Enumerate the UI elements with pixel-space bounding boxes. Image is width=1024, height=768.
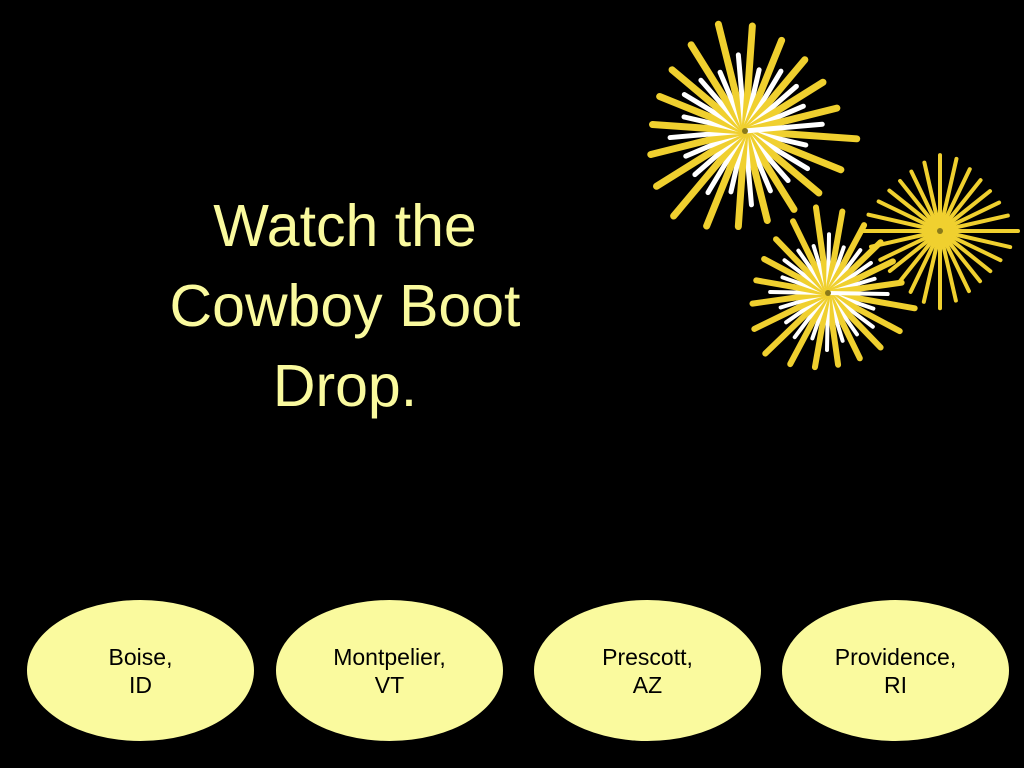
firework-ray [765, 293, 828, 354]
firework-ray [869, 215, 940, 231]
city-button-montpelier-vt[interactable]: Montpelier, VT [276, 600, 503, 741]
firework-ray [924, 163, 940, 231]
firework-ray [828, 283, 902, 293]
firework-ray [672, 70, 745, 131]
firework-ray [670, 131, 745, 138]
firework-ray [718, 24, 745, 131]
firework-ray [745, 71, 781, 131]
firework-ray [828, 293, 888, 294]
firework-ray [828, 279, 875, 293]
firework-ray [828, 293, 900, 331]
firework-ray [708, 131, 745, 193]
firework-ray [828, 234, 829, 293]
firework-ray [745, 131, 751, 205]
city-button-providence-ri[interactable]: Providence, RI [782, 600, 1009, 741]
city-button-label: Providence, RI [835, 643, 956, 699]
firework-ray [940, 216, 1008, 231]
firework-ray [798, 251, 828, 293]
firework-ray [752, 293, 828, 304]
firework-ray [745, 106, 803, 131]
firework-ray [940, 231, 969, 291]
firework-ray [924, 231, 940, 302]
city-button-label: Prescott, AZ [602, 643, 693, 699]
firework-ray [871, 231, 940, 247]
fireworks-burst-group [651, 24, 1018, 367]
firework-ray [828, 247, 844, 293]
firework-ray [657, 131, 745, 186]
firework-ray [745, 131, 808, 169]
firework-ray [764, 259, 828, 293]
firework-ray [738, 55, 745, 131]
firework-ray [940, 231, 990, 271]
firework-ray [745, 86, 796, 131]
firework-ray [674, 131, 745, 216]
firework-ray [653, 125, 745, 131]
firework-ray [720, 72, 745, 131]
city-button-prescott-az[interactable]: Prescott, AZ [534, 600, 761, 741]
firework-ray [691, 45, 745, 131]
firework-ray [827, 293, 828, 350]
firework-ray [828, 293, 860, 358]
firework-ray [828, 293, 873, 327]
firework-ray [814, 246, 828, 293]
firework-ray [684, 95, 745, 131]
firework-ray [911, 172, 940, 231]
firework-core [742, 128, 748, 134]
firework-ray [828, 293, 857, 334]
firework-core [825, 290, 831, 296]
firework-ray [776, 239, 828, 293]
firework-ray [828, 293, 873, 309]
firework-ray [889, 191, 940, 231]
firework-ray [745, 40, 782, 131]
firework-ray [781, 293, 828, 307]
firework-ray [756, 280, 828, 293]
firework-ray [828, 263, 871, 293]
firework-ray [754, 293, 828, 329]
firework-ray [879, 201, 940, 231]
firework-ray [828, 293, 881, 348]
page-title: Watch the Cowboy Boot Drop. [60, 186, 630, 426]
firework-ray [880, 231, 940, 260]
firework-ray [745, 26, 752, 131]
firework-ray [940, 231, 1010, 247]
firework-ray [828, 261, 893, 293]
firework-ray [828, 250, 860, 293]
firework-ray [738, 131, 745, 227]
firework-ray [745, 108, 837, 131]
firework-ray [815, 293, 828, 367]
firework-ray [745, 131, 770, 191]
firework-ray [785, 260, 829, 293]
firework-ray [812, 293, 828, 338]
firework-ray [745, 131, 767, 220]
firework-ray [684, 117, 745, 131]
firework-ray [770, 292, 828, 293]
firework-core [937, 228, 943, 234]
city-button-label: Montpelier, VT [333, 643, 446, 699]
firework-ray [828, 293, 838, 365]
firework-ray [900, 231, 940, 281]
firework-ray [940, 231, 1001, 260]
firework-ray [731, 131, 745, 192]
firework-ray [786, 293, 828, 322]
firework-ray [940, 169, 970, 231]
firework-ray [940, 180, 981, 231]
firework-ray [745, 131, 841, 170]
firework-ray [911, 231, 940, 292]
firework-ray [816, 207, 828, 293]
city-button-label: Boise, ID [109, 643, 173, 699]
firework-ray [745, 70, 759, 131]
slide-canvas: Watch the Cowboy Boot Drop. Boise, ID Mo… [0, 0, 1024, 768]
firework-ray [660, 97, 745, 131]
firework-ray [701, 80, 745, 131]
firework-ray [828, 225, 864, 293]
firework-ray [828, 242, 881, 293]
firework-ray [890, 231, 940, 271]
firework-ray [745, 124, 822, 131]
firework-ray [745, 131, 819, 193]
firework-ray [782, 277, 828, 293]
firework-ray [790, 293, 828, 364]
firework-ray [745, 131, 806, 145]
firework-ray [940, 231, 956, 301]
firework-ray [828, 212, 842, 293]
firework-ray [745, 60, 805, 131]
firework-ray [745, 131, 857, 139]
firework-ray [793, 221, 828, 293]
firework-ray [828, 293, 843, 341]
firework-ray [651, 131, 745, 154]
city-button-boise-id[interactable]: Boise, ID [27, 600, 254, 741]
firework-ray [940, 203, 999, 231]
firework-ray [707, 131, 745, 226]
firework-ray [686, 131, 745, 156]
firework-ray [940, 191, 990, 231]
firework-ray [745, 131, 788, 181]
firework-ray [940, 231, 980, 281]
firework-ray [695, 131, 745, 175]
firework-ray [940, 159, 956, 231]
firework-ray [745, 82, 823, 131]
firework-ray [828, 293, 915, 308]
firework-ray [745, 131, 794, 209]
firework-ray [795, 293, 828, 337]
firework-ray [900, 181, 940, 231]
